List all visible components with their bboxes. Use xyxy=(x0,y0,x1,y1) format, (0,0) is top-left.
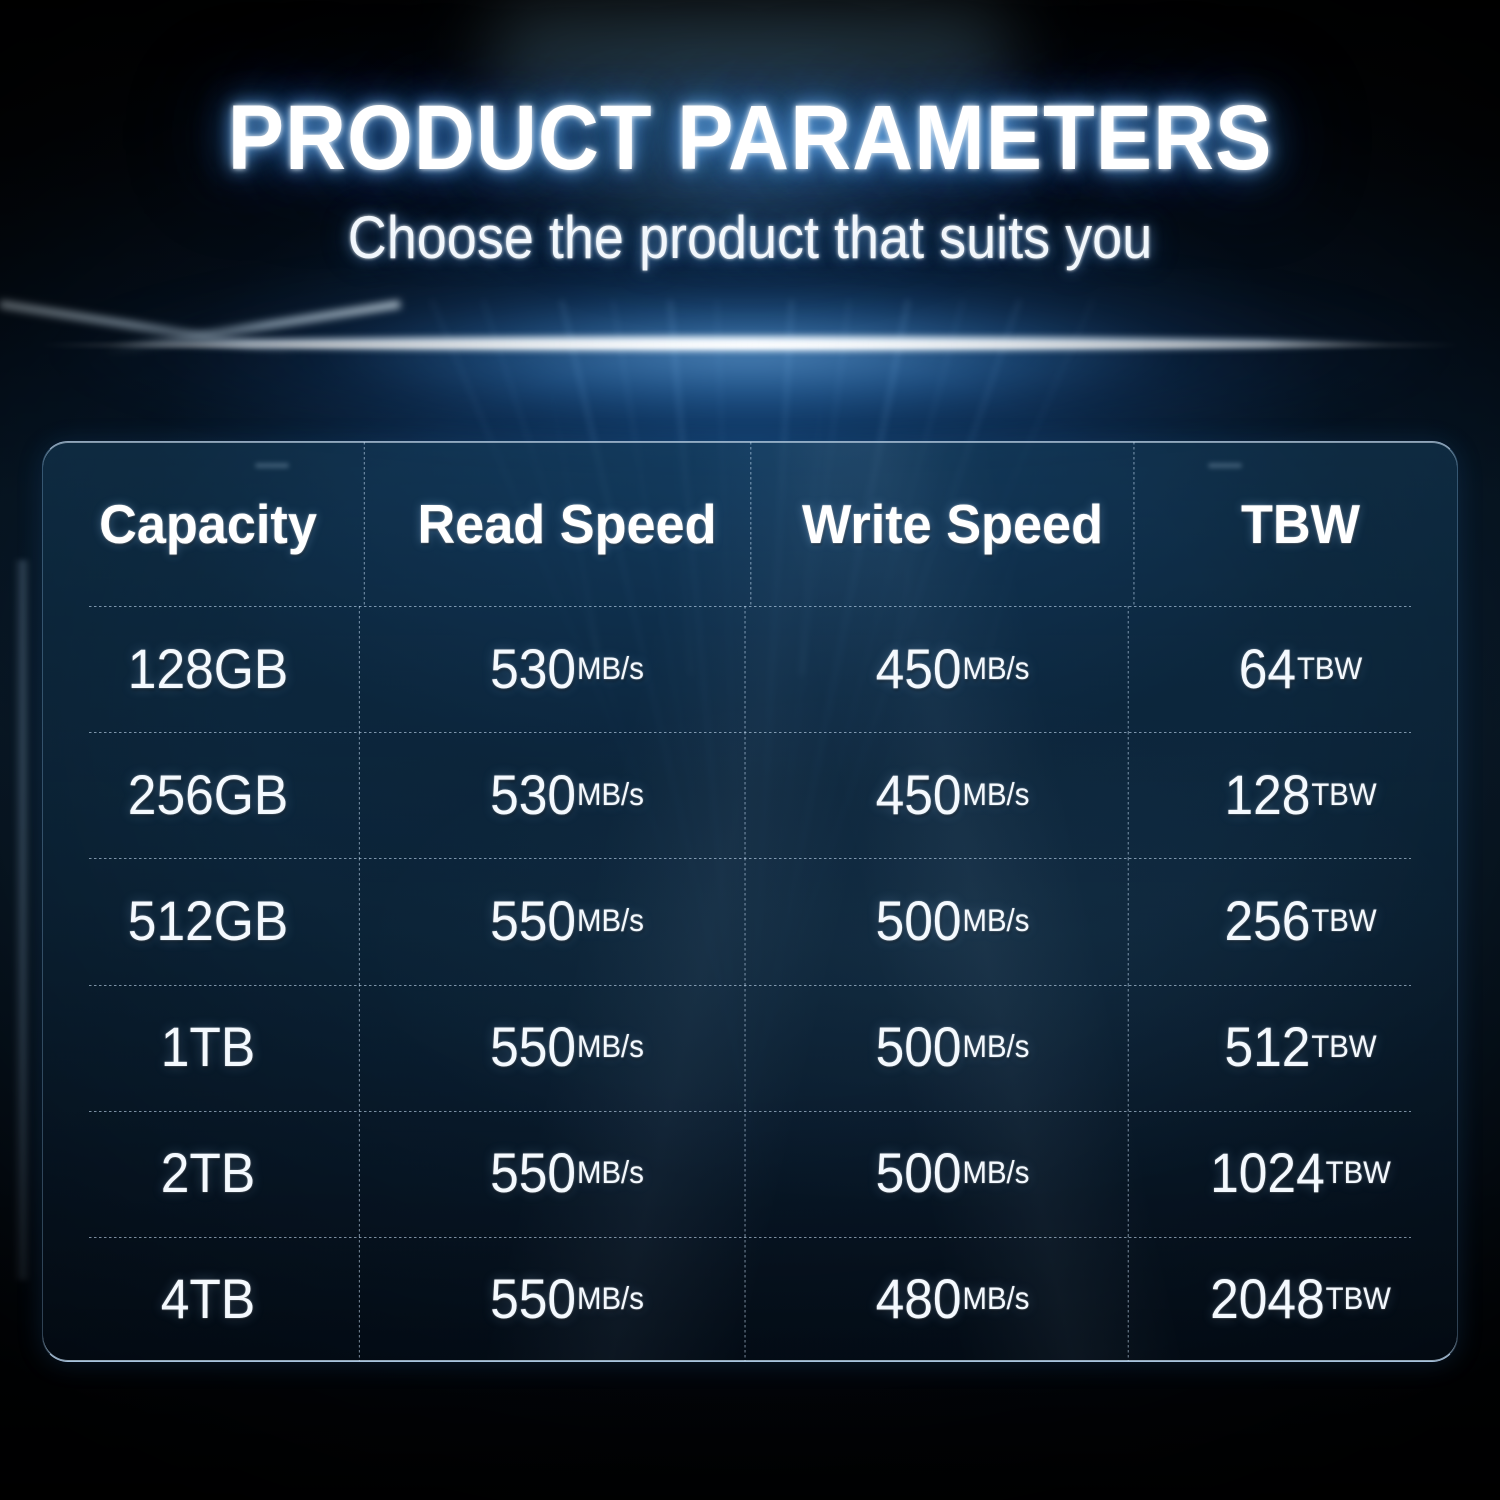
value-unit: MB/s xyxy=(963,902,1030,939)
value-unit: MB/s xyxy=(577,1280,644,1317)
value-number: 512 xyxy=(1224,1014,1310,1079)
cell-read-speed-row-3: 550MB/s xyxy=(389,858,746,984)
value-number: 1024 xyxy=(1210,1140,1325,1205)
cell-capacity-row-4: 1TB xyxy=(56,984,360,1110)
cell-capacity-row-3: 512GB xyxy=(56,858,360,984)
cell-capacity-row-2: 256GB xyxy=(56,732,360,858)
value-unit: MB/s xyxy=(577,902,644,939)
value-number: 128GB xyxy=(128,636,288,701)
cell-write-speed-row-1: 450MB/s xyxy=(776,606,1128,732)
cell-tbw-row-5: 1024TBW xyxy=(1157,1109,1445,1235)
cell-tbw-row-4: 512TBW xyxy=(1157,984,1445,1110)
value-number: 500 xyxy=(876,888,962,953)
cell-capacity-row-6: 4TB xyxy=(56,1235,360,1361)
horizontal-light-streak xyxy=(108,336,1392,351)
page-subtitle: Choose the product that suits you xyxy=(75,208,1425,268)
value-number: 550 xyxy=(490,1266,576,1331)
value-number: 480 xyxy=(876,1266,962,1331)
value-unit: MB/s xyxy=(577,1028,644,1065)
column-header-capacity: Capacity xyxy=(51,442,365,606)
value-unit: MB/s xyxy=(577,776,644,813)
horizontal-light-glow xyxy=(0,238,1500,468)
left-light-column xyxy=(14,560,30,1280)
cell-capacity-row-5: 2TB xyxy=(56,1109,360,1235)
light-wing-left-icon xyxy=(103,300,401,355)
value-number: 530 xyxy=(490,636,576,701)
value-number: 530 xyxy=(490,762,576,827)
value-number: 550 xyxy=(490,888,576,953)
header-block: PRODUCT PARAMETERS Choose the product th… xyxy=(0,0,1500,268)
cell-write-speed-row-2: 450MB/s xyxy=(776,732,1128,858)
cell-write-speed-row-3: 500MB/s xyxy=(776,858,1128,984)
cell-write-speed-row-5: 500MB/s xyxy=(776,1109,1128,1235)
column-header-label: Capacity xyxy=(99,492,317,556)
value-unit: MB/s xyxy=(963,776,1030,813)
value-number: 512GB xyxy=(128,888,288,953)
column-header-label: TBW xyxy=(1241,492,1360,556)
cell-read-speed-row-5: 550MB/s xyxy=(389,1109,746,1235)
parameters-table: CapacityRead SpeedWrite SpeedTBW128GB530… xyxy=(43,442,1457,1361)
value-unit: TBW xyxy=(1326,1154,1391,1191)
value-unit: MB/s xyxy=(963,1154,1030,1191)
value-number: 550 xyxy=(490,1140,576,1205)
value-number: 550 xyxy=(490,1014,576,1079)
product-parameters-banner: PRODUCT PARAMETERS Choose the product th… xyxy=(0,0,1500,1500)
horizontal-light-streak-core xyxy=(40,342,1460,348)
value-unit: MB/s xyxy=(963,1280,1030,1317)
cell-capacity-row-1: 128GB xyxy=(56,606,360,732)
cell-read-speed-row-2: 530MB/s xyxy=(389,732,746,858)
value-unit: TBW xyxy=(1326,1280,1391,1317)
cell-write-speed-row-4: 500MB/s xyxy=(776,984,1128,1110)
cell-tbw-row-2: 128TBW xyxy=(1157,732,1445,858)
value-number: 1TB xyxy=(161,1014,255,1079)
cell-write-speed-row-6: 480MB/s xyxy=(776,1235,1128,1361)
parameters-panel: CapacityRead SpeedWrite SpeedTBW128GB530… xyxy=(42,441,1458,1362)
value-number: 450 xyxy=(876,762,962,827)
value-number: 500 xyxy=(876,1014,962,1079)
value-number: 128 xyxy=(1224,762,1310,827)
value-unit: TBW xyxy=(1311,1028,1376,1065)
light-wing-right-icon xyxy=(0,300,297,355)
cell-tbw-row-6: 2048TBW xyxy=(1157,1235,1445,1361)
column-header-label: Write Speed xyxy=(802,492,1103,556)
value-number: 64 xyxy=(1239,636,1296,701)
cell-read-speed-row-4: 550MB/s xyxy=(389,984,746,1110)
cell-tbw-row-1: 64TBW xyxy=(1157,606,1445,732)
value-unit: TBW xyxy=(1311,776,1376,813)
value-number: 450 xyxy=(876,636,962,701)
cell-tbw-row-3: 256TBW xyxy=(1157,858,1445,984)
column-header-label: Read Speed xyxy=(417,492,716,556)
value-number: 2TB xyxy=(161,1140,255,1205)
column-header-tbw: TBW xyxy=(1152,442,1449,606)
column-header-write-speed: Write Speed xyxy=(771,442,1135,606)
value-unit: MB/s xyxy=(963,1028,1030,1065)
column-header-read-speed: Read Speed xyxy=(383,442,752,606)
value-unit: TBW xyxy=(1311,902,1376,939)
value-unit: MB/s xyxy=(577,1154,644,1191)
value-number: 4TB xyxy=(161,1266,255,1331)
value-number: 256GB xyxy=(128,762,288,827)
cell-read-speed-row-6: 550MB/s xyxy=(389,1235,746,1361)
page-title: PRODUCT PARAMETERS xyxy=(60,92,1440,184)
value-unit: MB/s xyxy=(577,650,644,687)
cell-read-speed-row-1: 530MB/s xyxy=(389,606,746,732)
value-number: 256 xyxy=(1224,888,1310,953)
value-unit: MB/s xyxy=(963,650,1030,687)
value-unit: TBW xyxy=(1297,650,1362,687)
value-number: 500 xyxy=(876,1140,962,1205)
value-number: 2048 xyxy=(1210,1266,1325,1331)
